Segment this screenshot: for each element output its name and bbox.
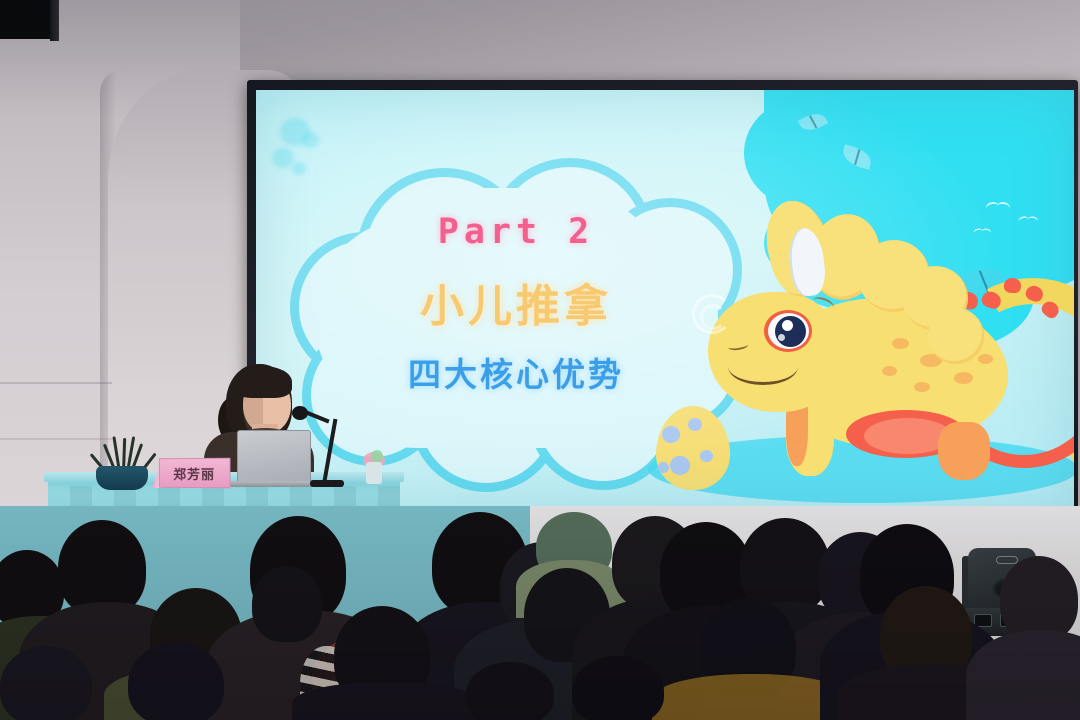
apple-logo-icon (268, 450, 281, 465)
slide-subhead: 四大核心优势 (408, 348, 624, 396)
photo-scene: Part 2 小儿推拿 四大核心优势 (0, 0, 1080, 720)
presenter-hair-front (234, 366, 292, 398)
presenter-name-placard: 郑芳丽 (159, 458, 231, 489)
presenter-name-text: 郑芳丽 (173, 463, 215, 482)
bonsai-plant-pot (96, 466, 148, 490)
slide-part-label: Part 2 (438, 212, 594, 252)
slide-text-block: Part 2 小儿推拿 四大核心优势 (290, 158, 742, 494)
slide-headline: 小儿推拿 (420, 270, 612, 334)
wall-seam (0, 382, 112, 384)
ceiling-dark-panel-edge (50, 0, 59, 41)
dino-spike (1003, 277, 1021, 293)
dino-frill-lobe (928, 308, 984, 364)
audience-silhouettes (0, 506, 1080, 720)
dino-eye-highlight (782, 320, 793, 331)
dino-back-leg (938, 422, 990, 480)
dinosaur-mascot (686, 182, 1074, 510)
dino-eye-highlight (778, 334, 785, 341)
projection-screen: Part 2 小儿推拿 四大核心优势 (256, 90, 1074, 510)
wall-seam-lower (0, 438, 112, 440)
ceiling-dark-panel (0, 0, 57, 39)
bubble-decoration (302, 132, 319, 148)
